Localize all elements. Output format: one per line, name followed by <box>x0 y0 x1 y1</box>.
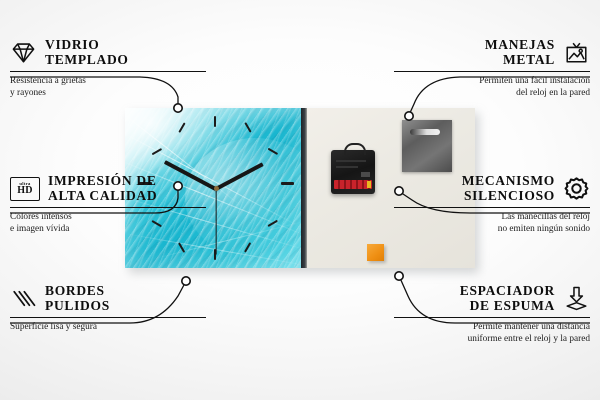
connector-dot-manejas <box>405 112 413 120</box>
divider <box>10 317 206 318</box>
divider <box>394 207 590 208</box>
feature-header: MECANISMO SILENCIOSO <box>394 174 590 203</box>
feature-mecanismo-silencioso: MECANISMO SILENCIOSO Las manecillas del … <box>394 174 590 236</box>
connector-dot-vidrio <box>174 104 182 112</box>
feature-description: Las manecillas del reloj no emiten ningú… <box>394 212 590 235</box>
wall-frame-hook-icon <box>563 39 590 66</box>
feature-description: Permite mantener una distancia uniforme … <box>394 322 590 345</box>
feature-header: BORDES PULIDOS <box>10 284 206 313</box>
divider <box>394 317 590 318</box>
clock-pivot <box>214 186 219 191</box>
feature-title: MECANISMO SILENCIOSO <box>462 174 555 203</box>
feature-title: VIDRIO TEMPLADO <box>45 38 129 67</box>
feature-vidrio-templado: VIDRIO TEMPLADO Resistencia a grietas y … <box>10 38 206 100</box>
feature-header: MANEJAS METAL <box>394 38 590 67</box>
arrow-down-pad-icon <box>563 285 590 312</box>
feature-title: BORDES PULIDOS <box>45 284 110 313</box>
beveled-edge-icon <box>10 285 37 312</box>
feature-bordes-pulidos: BORDES PULIDOS Superficie lisa y segura <box>10 284 206 334</box>
feature-header: VIDRIO TEMPLADO <box>10 38 206 67</box>
diamond-icon <box>10 39 37 66</box>
feature-title: ESPACIADOR DE ESPUMA <box>460 284 555 313</box>
divider <box>10 71 206 72</box>
feature-description: Superficie lisa y segura <box>10 322 206 334</box>
feature-manejas-metal: MANEJAS METAL Permiten una fácil instala… <box>394 38 590 100</box>
feature-header: ESPACIADOR DE ESPUMA <box>394 284 590 313</box>
feature-title: IMPRESIÓN DE ALTA CALIDAD <box>48 174 157 203</box>
connector-dot-espaciador <box>395 272 403 280</box>
feature-impresion-alta-calidad: ultra HD IMPRESIÓN DE ALTA CALIDAD Color… <box>10 174 206 236</box>
divider <box>10 207 206 208</box>
gear-icon <box>563 175 590 202</box>
feature-header: ultra HD IMPRESIÓN DE ALTA CALIDAD <box>10 174 206 203</box>
feature-espaciador-espuma: ESPACIADOR DE ESPUMA Permite mantener un… <box>394 284 590 346</box>
feature-description: Resistencia a grietas y rayones <box>10 76 206 99</box>
feature-title: MANEJAS METAL <box>485 38 555 67</box>
infographic-canvas: VIDRIO TEMPLADO Resistencia a grietas y … <box>0 0 600 400</box>
divider <box>394 71 590 72</box>
feature-description: Colores intensos e imagen vívida <box>10 212 206 235</box>
ultra-hd-icon: ultra HD <box>10 177 40 201</box>
feature-description: Permiten una fácil instalación del reloj… <box>394 76 590 99</box>
